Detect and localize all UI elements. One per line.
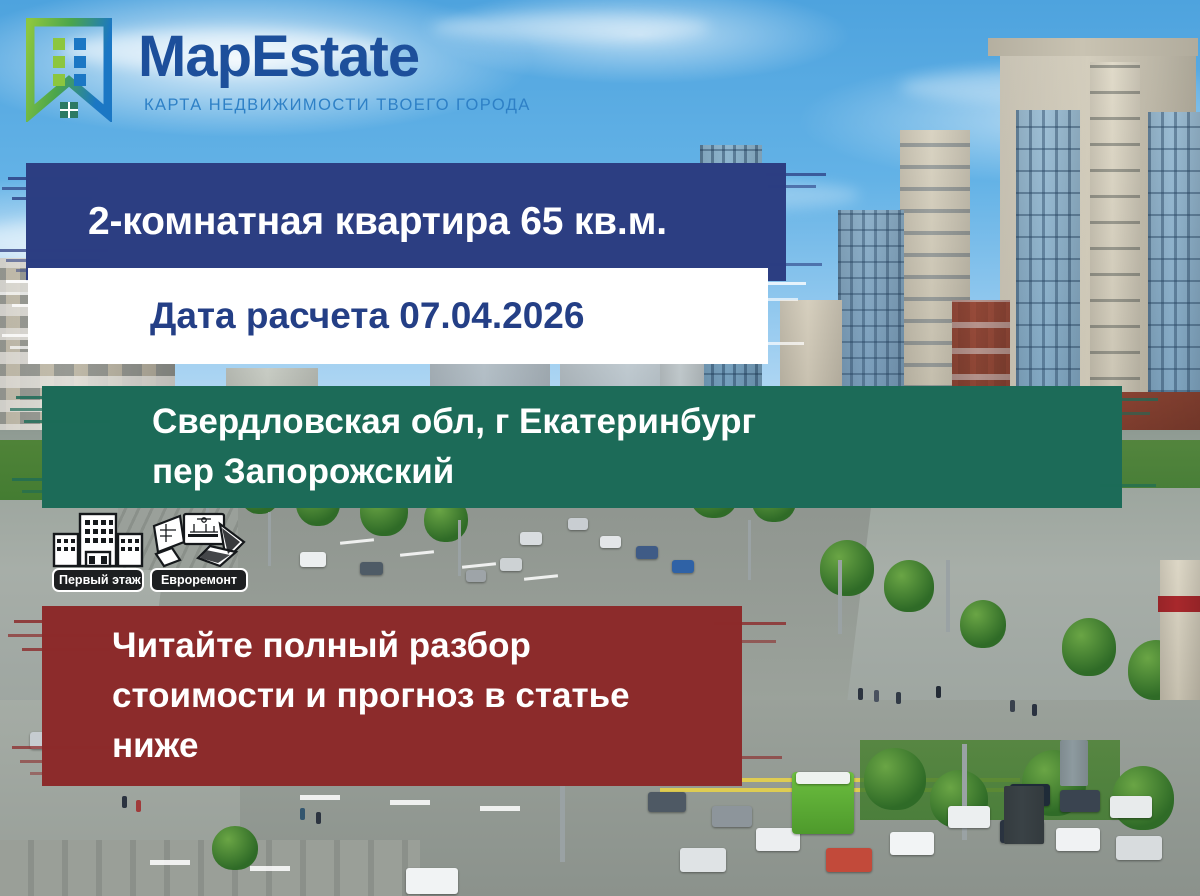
badge-first-floor-label: Первый этаж	[52, 568, 144, 592]
cta-lines: Читайте полный разбор стоимости и прогно…	[42, 621, 742, 770]
brand-tagline: КАРТА НЕДВИЖИМОСТИ ТВОЕГО ГОРОДА	[144, 96, 531, 115]
property-title-text: 2-комнатная квартира 65 кв.м.	[26, 200, 786, 244]
renovation-blueprint-icon	[150, 508, 248, 570]
tram-track	[0, 840, 420, 896]
calculation-date-banner: Дата расчета 07.04.2026	[28, 268, 768, 364]
info-panel	[1060, 740, 1088, 786]
cta-line-3: ниже	[112, 721, 742, 771]
calculation-date-text: Дата расчета 07.04.2026	[28, 295, 768, 337]
corner-shop-sign	[1158, 596, 1200, 612]
address-line-2: пер Запорожский	[152, 447, 1122, 497]
badge-euro-renovation[interactable]: Евроремонт	[150, 508, 248, 592]
address-line-1: Свердловская обл, г Екатеринбург	[152, 397, 1122, 447]
corner-building	[1160, 560, 1200, 700]
cta-line-1: Читайте полный разбор	[112, 621, 742, 671]
brand-wordmark: MapEstate	[138, 28, 419, 86]
promo-card: MapEstate КАРТА НЕДВИЖИМОСТИ ТВОЕГО ГОРО…	[0, 0, 1200, 896]
cta-line-2: стоимости и прогноз в статье	[112, 671, 742, 721]
cta-banner: Читайте полный разбор стоимости и прогно…	[42, 606, 742, 786]
feature-badges: Первый этаж	[52, 508, 248, 592]
badge-first-floor[interactable]: Первый этаж	[52, 508, 144, 592]
address-banner: Свердловская обл, г Екатеринбург пер Зап…	[42, 386, 1122, 508]
property-title-banner: 2-комнатная квартира 65 кв.м.	[26, 163, 786, 281]
billboard	[1004, 786, 1044, 844]
apartment-building-icon	[52, 508, 144, 570]
brand-word-estate: Estate	[251, 24, 419, 89]
brand-logo[interactable]: MapEstate КАРТА НЕДВИЖИМОСТИ ТВОЕГО ГОРО…	[26, 18, 546, 122]
bookmark-building-icon	[26, 18, 112, 122]
tower-roof-slab	[988, 38, 1198, 56]
badge-euro-renovation-label: Евроремонт	[150, 568, 248, 592]
brand-word-map: Map	[138, 24, 251, 89]
address-lines: Свердловская обл, г Екатеринбург пер Зап…	[42, 397, 1122, 496]
